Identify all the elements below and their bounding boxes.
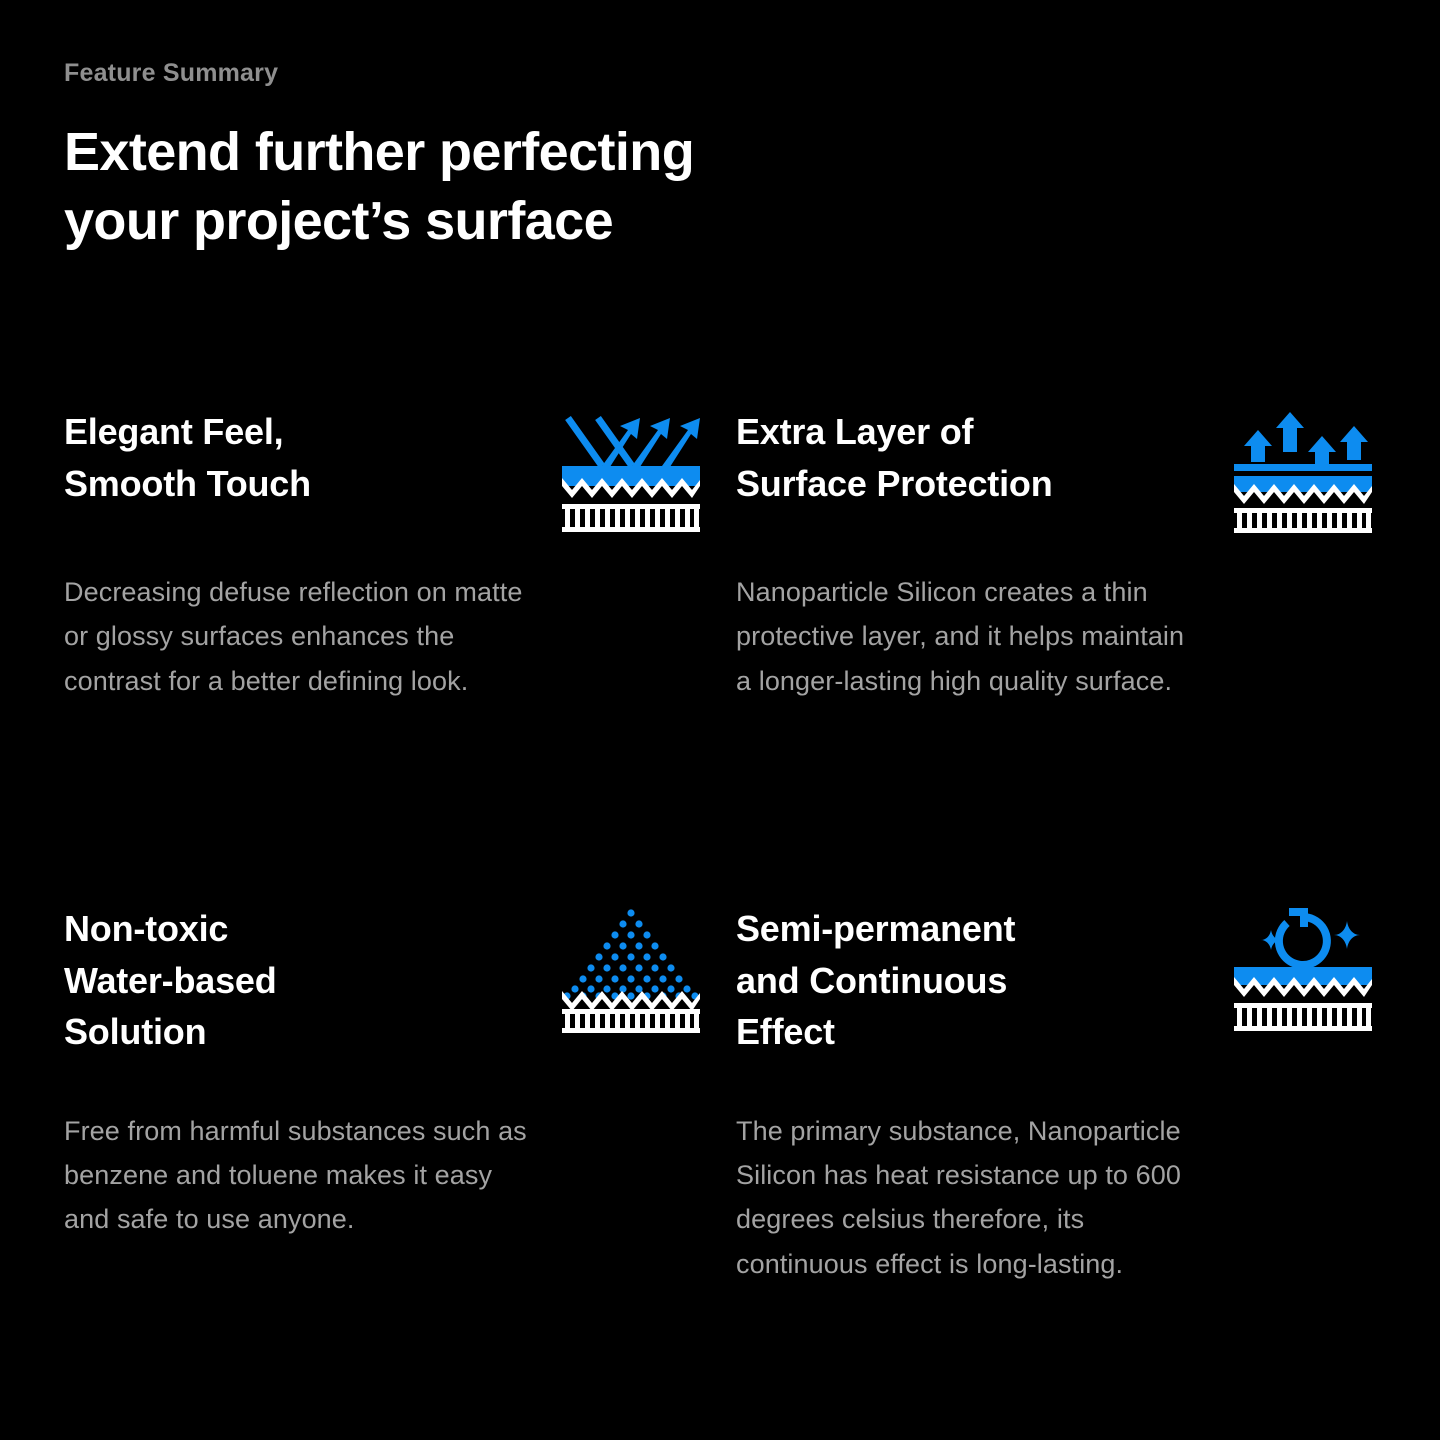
feature-description: Decreasing defuse reflection on matte or… bbox=[64, 540, 704, 703]
protective-layer-icon bbox=[1230, 404, 1376, 534]
feature-card-header: Elegant Feel, Smooth Touch bbox=[64, 400, 704, 540]
feature-card-header: Non-toxic Water-based Solution bbox=[64, 899, 704, 1079]
diffuse-reflection-icon bbox=[558, 404, 704, 534]
feature-title: Non-toxic Water-based Solution bbox=[64, 899, 277, 1058]
feature-card-non-toxic: Non-toxic Water-based Solution bbox=[64, 899, 704, 1286]
feature-card-header: Semi-permanent and Continuous Effect bbox=[736, 899, 1376, 1079]
feature-description: Free from harmful substances such as ben… bbox=[64, 1079, 704, 1242]
feature-card-semi-permanent: Semi-permanent and Continuous Effect bbox=[736, 899, 1376, 1286]
feature-description: The primary substance, Nanoparticle Sili… bbox=[736, 1079, 1376, 1286]
feature-card-header: Extra Layer of Surface Protection bbox=[736, 400, 1376, 540]
feature-grid: Elegant Feel, Smooth Touch bbox=[64, 400, 1376, 1286]
sparkle-right bbox=[1334, 921, 1360, 949]
feature-title: Elegant Feel, Smooth Touch bbox=[64, 400, 311, 510]
feature-description: Nanoparticle Silicon creates a thin prot… bbox=[736, 540, 1376, 703]
feature-card-extra-layer: Extra Layer of Surface Protection bbox=[736, 400, 1376, 703]
feature-title: Extra Layer of Surface Protection bbox=[736, 400, 1052, 510]
feature-card-elegant-feel: Elegant Feel, Smooth Touch bbox=[64, 400, 704, 703]
page-header: Feature Summary Extend further perfectin… bbox=[64, 58, 964, 256]
continuous-effect-icon bbox=[1230, 903, 1376, 1033]
page-title: Extend further perfecting your project’s… bbox=[64, 118, 964, 256]
eyebrow-label: Feature Summary bbox=[64, 58, 964, 88]
feature-title: Semi-permanent and Continuous Effect bbox=[736, 899, 1015, 1058]
refresh-arrow bbox=[1279, 908, 1327, 965]
feature-summary-page: Feature Summary Extend further perfectin… bbox=[0, 0, 1440, 1440]
nanoparticle-spray-icon bbox=[558, 903, 704, 1033]
